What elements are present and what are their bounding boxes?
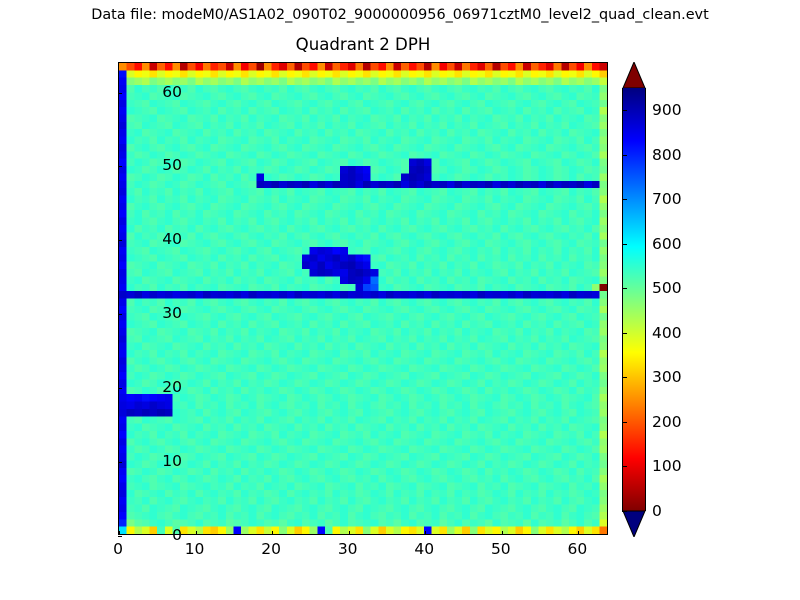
colorbar-tick-mark [622, 377, 627, 378]
x-tick-mark [196, 531, 197, 535]
x-tick-mark [578, 531, 579, 535]
colorbar-tick-label: 900 [652, 101, 682, 119]
colorbar-tick-mark [622, 199, 627, 200]
colorbar-under-range-arrow-icon [622, 510, 646, 537]
y-tick-label: 50 [122, 156, 182, 174]
x-tick-label: 40 [394, 540, 454, 558]
x-tick-label: 30 [318, 540, 378, 558]
y-tick-label: 10 [122, 452, 182, 470]
colorbar-tick-mark [622, 333, 627, 334]
colorbar-tick-label: 400 [652, 324, 682, 342]
colorbar-tick-mark [622, 422, 627, 423]
heatmap-image [119, 63, 607, 534]
y-tick-label: 0 [122, 526, 182, 544]
colorbar-tick-mark [622, 244, 627, 245]
colorbar-tick-label: 700 [652, 190, 682, 208]
x-tick-mark [425, 531, 426, 535]
y-tick-label: 30 [122, 304, 182, 322]
colorbar-tick-label: 300 [652, 368, 682, 386]
y-tick-label: 40 [122, 230, 182, 248]
matplotlib-figure: Data file: modeM0/AS1A02_090T02_90000009… [0, 0, 800, 600]
colorbar-tick-mark [622, 511, 627, 512]
y-tick-label: 20 [122, 378, 182, 396]
axes-title: Quadrant 2 DPH [118, 35, 608, 55]
colorbar-gradient-fill [623, 88, 645, 511]
colorbar-tick-mark [622, 155, 627, 156]
colorbar-tick-label: 100 [652, 457, 682, 475]
x-tick-mark [502, 531, 503, 535]
heatmap-axes [118, 62, 608, 535]
colorbar-tick-label: 0 [652, 502, 662, 520]
colorbar-tick-label: 600 [652, 235, 682, 253]
x-tick-label: 60 [547, 540, 607, 558]
colorbar-tick-label: 200 [652, 413, 682, 431]
colorbar-over-range-arrow-icon [622, 62, 646, 89]
x-tick-mark [272, 531, 273, 535]
colorbar-tick-label: 800 [652, 146, 682, 164]
colorbar-tick-mark [622, 288, 627, 289]
x-tick-mark [119, 531, 120, 535]
colorbar-tick-mark [622, 466, 627, 467]
y-tick-label: 60 [122, 83, 182, 101]
figure-suptitle: Data file: modeM0/AS1A02_090T02_90000009… [0, 7, 800, 24]
x-tick-mark [349, 531, 350, 535]
colorbar-tick-label: 500 [652, 279, 682, 297]
x-tick-label: 50 [471, 540, 531, 558]
colorbar-gradient-bar [622, 88, 646, 511]
x-tick-label: 20 [241, 540, 301, 558]
colorbar-tick-mark [622, 110, 627, 111]
